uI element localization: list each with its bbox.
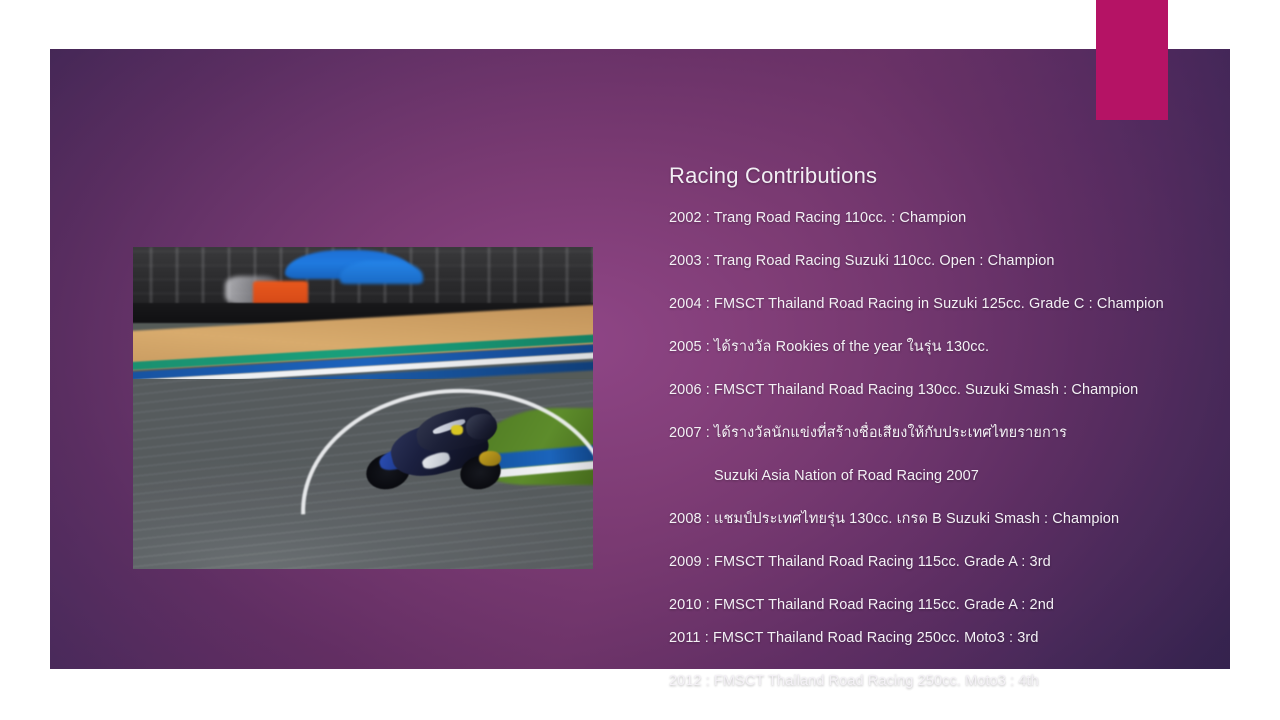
list-item: 2012 : FMSCT Thailand Road Racing 250cc.… [669, 672, 1244, 691]
list-item: Suzuki Asia Nation of Road Racing 2007 [669, 467, 1244, 486]
list-item: 2006 : FMSCT Thailand Road Racing 130cc.… [669, 381, 1244, 400]
photo-motorcycle-rider [363, 408, 519, 505]
list-item: 2004 : FMSCT Thailand Road Racing in Suz… [669, 295, 1244, 314]
racing-photo-image [133, 247, 593, 569]
list-item: 2009 : FMSCT Thailand Road Racing 115cc.… [669, 553, 1244, 572]
photo-bike-number-plate [451, 425, 464, 435]
racing-photo [133, 247, 593, 569]
list-item: 2007 : ได้รางวัลนักแข่งที่สร้างชื่อเสียง… [669, 424, 1244, 443]
list-item: 2008 : แชมป์ประเทศไทยรุ่น 130cc. เกรด B … [669, 510, 1244, 529]
accent-bar [1096, 0, 1168, 120]
photo-knee-slider [479, 451, 501, 466]
list-item: 2003 : Trang Road Racing Suzuki 110cc. O… [669, 252, 1244, 271]
list-item: 2002 : Trang Road Racing 110cc. : Champi… [669, 209, 1244, 228]
list-item: 2010 : FMSCT Thailand Road Racing 115cc.… [669, 596, 1244, 615]
content-text-column: Racing Contributions 2002 : Trang Road R… [669, 161, 1244, 691]
list-item: 2011 : FMSCT Thailand Road Racing 250cc.… [669, 629, 1244, 648]
slide-content-panel: Racing Contributions 2002 : Trang Road R… [50, 49, 1230, 669]
list-item: 2005 : ได้รางวัล Rookies of the year ในร… [669, 338, 1244, 357]
photo-blue-tent-secondary [340, 261, 423, 284]
page-title: Racing Contributions [669, 161, 1244, 191]
racing-contributions-list: 2002 : Trang Road Racing 110cc. : Champi… [669, 209, 1244, 691]
